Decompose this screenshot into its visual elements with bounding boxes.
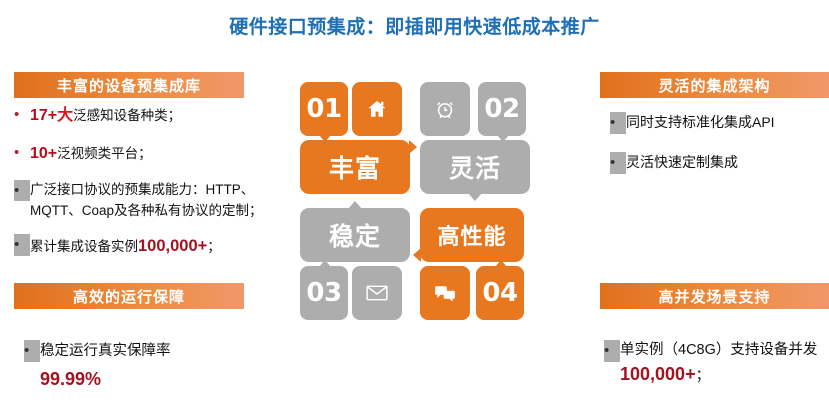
- bullet-list-left-bottom: • 稳定运行真实保障率 99.99%: [24, 340, 284, 394]
- bullet-dot-icon: •: [604, 340, 620, 362]
- four-quadrant-diagram: 01 丰富: [300, 82, 530, 322]
- metric-label: 泛感知设备种类；: [73, 108, 181, 123]
- section-header-left-top: 丰富的设备预集成库: [14, 72, 244, 98]
- bubble-tail-icon: [348, 201, 362, 209]
- quadrant-label-03: 稳定: [300, 208, 410, 262]
- list-item-text: 单实例（4C8G）支持设备并发100,000+；: [620, 340, 829, 387]
- concurrency-label: 单实例（4C8G）支持设备并发: [620, 342, 817, 358]
- alarm-icon: [420, 82, 470, 136]
- section-header-right-bottom-label: 高并发场景支持: [658, 286, 770, 307]
- diagram-quadrant-04[interactable]: 高性能 04: [420, 208, 530, 320]
- quadrant-number-03: 03: [300, 266, 348, 320]
- list-item-text: 稳定运行真实保障率 99.99%: [40, 340, 284, 394]
- list-item: • 同时支持标准化集成API: [610, 112, 825, 134]
- metric-value: 10+: [30, 145, 57, 162]
- list-item-text: 10+泛视频类平台；: [30, 142, 280, 167]
- list-item: • 广泛接口协议的预集成能力：HTTP、MQTT、Coap及各种私有协议的定制；: [14, 180, 280, 222]
- page-title: 硬件接口预集成：即插即用快速低成本推广: [0, 12, 829, 39]
- diagram-quadrant-03[interactable]: 稳定 03: [300, 208, 410, 320]
- metric-label: 泛视频类平台；: [57, 146, 152, 161]
- quadrant-number-04: 04: [476, 266, 524, 320]
- list-item: • 单实例（4C8G）支持设备并发100,000+；: [604, 340, 829, 387]
- quadrant-label-04: 高性能: [420, 208, 524, 262]
- uptime-value: 99.99%: [40, 366, 284, 394]
- bullet-dot-icon: •: [24, 340, 40, 362]
- quadrant-label-02: 灵活: [420, 140, 530, 194]
- bullet-dot-icon: •: [14, 234, 30, 256]
- bullet-dot-icon: •: [610, 112, 626, 134]
- list-item: • 灵活快速定制集成: [610, 152, 825, 174]
- section-header-right-top-label: 灵活的集成架构: [658, 75, 770, 96]
- list-item-text: 广泛接口协议的预集成能力：HTTP、MQTT、Coap及各种私有协议的定制；: [30, 180, 280, 222]
- list-item: • 稳定运行真实保障率 99.99%: [24, 340, 284, 394]
- bullet-dot-icon: •: [610, 152, 626, 174]
- list-item-text: 累计集成设备实例100,000+；: [30, 234, 280, 260]
- bubble-tail-icon: [468, 193, 482, 201]
- list-item-text: 同时支持标准化集成API: [626, 112, 825, 134]
- bullet-dot-icon: •: [14, 104, 30, 126]
- bullet-list-right-bottom: • 单实例（4C8G）支持设备并发100,000+；: [604, 340, 829, 387]
- concurrency-suffix: ；: [696, 368, 711, 384]
- section-header-left-top-label: 丰富的设备预集成库: [57, 75, 201, 96]
- chat-icon: [420, 266, 470, 320]
- bubble-tail-icon: [319, 260, 331, 267]
- bubble-tail-icon: [409, 140, 417, 154]
- quadrant-number-01: 01: [300, 82, 348, 136]
- list-item-text: 灵活快速定制集成: [626, 152, 825, 174]
- uptime-label: 稳定运行真实保障率: [40, 340, 284, 362]
- list-item: • 10+泛视频类平台；: [14, 142, 280, 167]
- list-item-text: 17+大泛感知设备种类；: [30, 104, 280, 129]
- list-item: • 17+大泛感知设备种类；: [14, 104, 280, 129]
- section-header-right-top: 灵活的集成架构: [600, 72, 829, 98]
- bullet-dot-icon: •: [14, 180, 30, 202]
- diagram-quadrant-02[interactable]: 02 灵活: [420, 82, 530, 194]
- diagram-quadrant-01[interactable]: 01 丰富: [300, 82, 410, 194]
- metric-suffix: ；: [207, 239, 221, 254]
- concurrency-value: 100,000+: [620, 364, 696, 384]
- quadrant-number-02: 02: [478, 82, 526, 136]
- quadrant-label-01: 丰富: [300, 140, 410, 194]
- bullet-list-right-top: • 同时支持标准化集成API • 灵活快速定制集成: [610, 112, 825, 192]
- bullet-list-left-top: • 17+大泛感知设备种类； • 10+泛视频类平台； • 广泛接口协议的预集成…: [14, 104, 280, 273]
- bubble-tail-icon: [495, 260, 507, 267]
- section-header-left-bottom: 高效的运行保障: [14, 283, 244, 309]
- bullet-dot-icon: •: [14, 142, 30, 164]
- metric-emphasis: 大: [57, 107, 73, 124]
- metric-value: 17+: [30, 107, 57, 124]
- slide-canvas: 硬件接口预集成：即插即用快速低成本推广 丰富的设备预集成库 • 17+大泛感知设…: [0, 0, 829, 415]
- metric-value: 100,000+: [138, 237, 207, 255]
- bubble-tail-icon: [413, 248, 421, 262]
- home-icon: [352, 82, 402, 136]
- metric-label: 累计集成设备实例: [30, 239, 138, 254]
- section-header-left-bottom-label: 高效的运行保障: [73, 286, 185, 307]
- list-item: • 累计集成设备实例100,000+；: [14, 234, 280, 260]
- section-header-right-bottom: 高并发场景支持: [600, 283, 829, 309]
- mail-icon: [352, 266, 402, 320]
